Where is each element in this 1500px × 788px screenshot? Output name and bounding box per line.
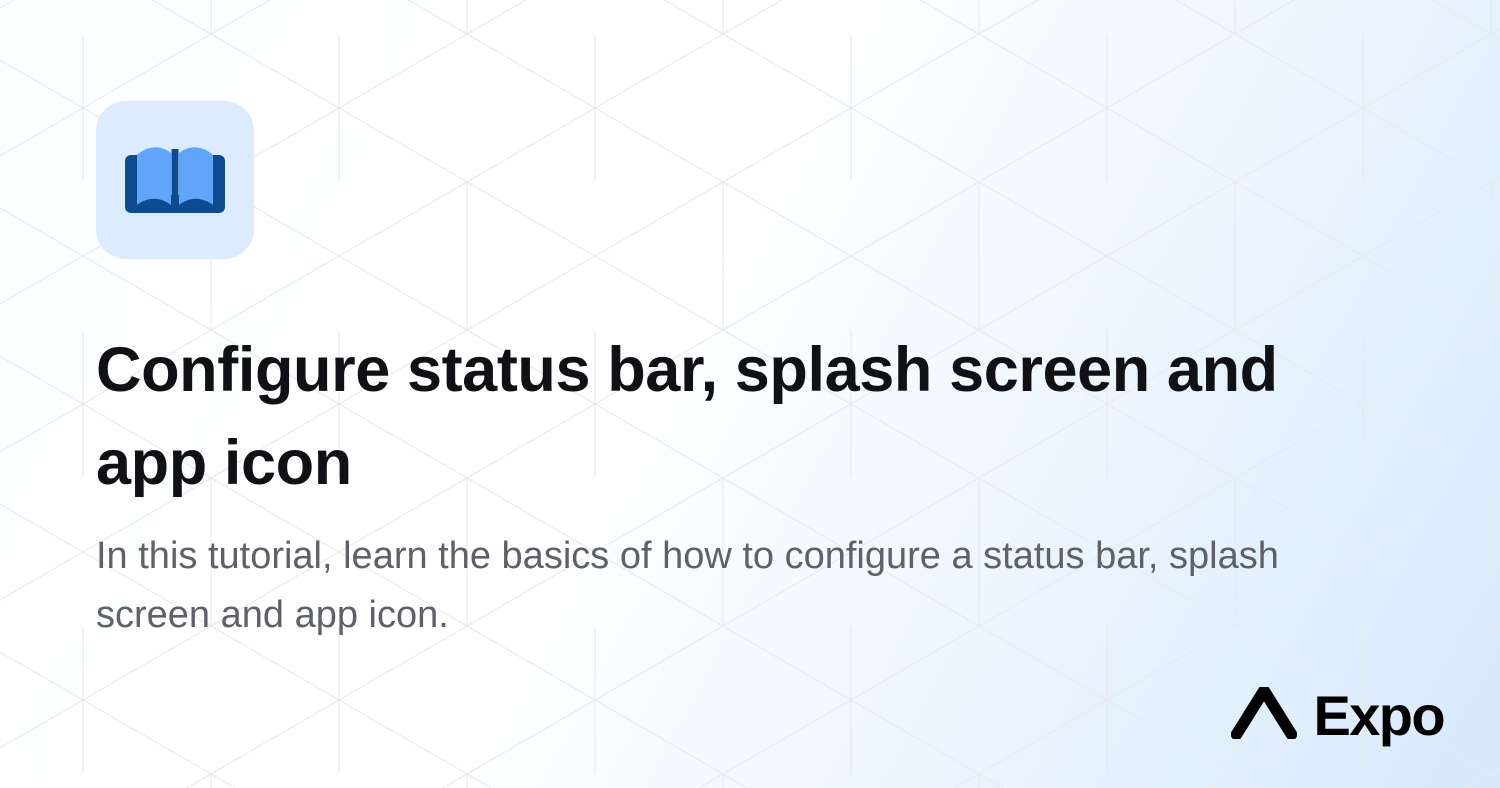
expo-logo: Expo (1231, 687, 1444, 744)
expo-wordmark: Expo (1313, 688, 1444, 744)
page-description: In this tutorial, learn the basics of ho… (96, 527, 1396, 645)
open-graph-card: Configure status bar, splash screen and … (0, 0, 1500, 788)
book-icon-tile (96, 101, 254, 259)
page-title: Configure status bar, splash screen and … (96, 324, 1396, 509)
open-book-icon (125, 139, 225, 221)
expo-chevron-icon (1231, 687, 1297, 744)
